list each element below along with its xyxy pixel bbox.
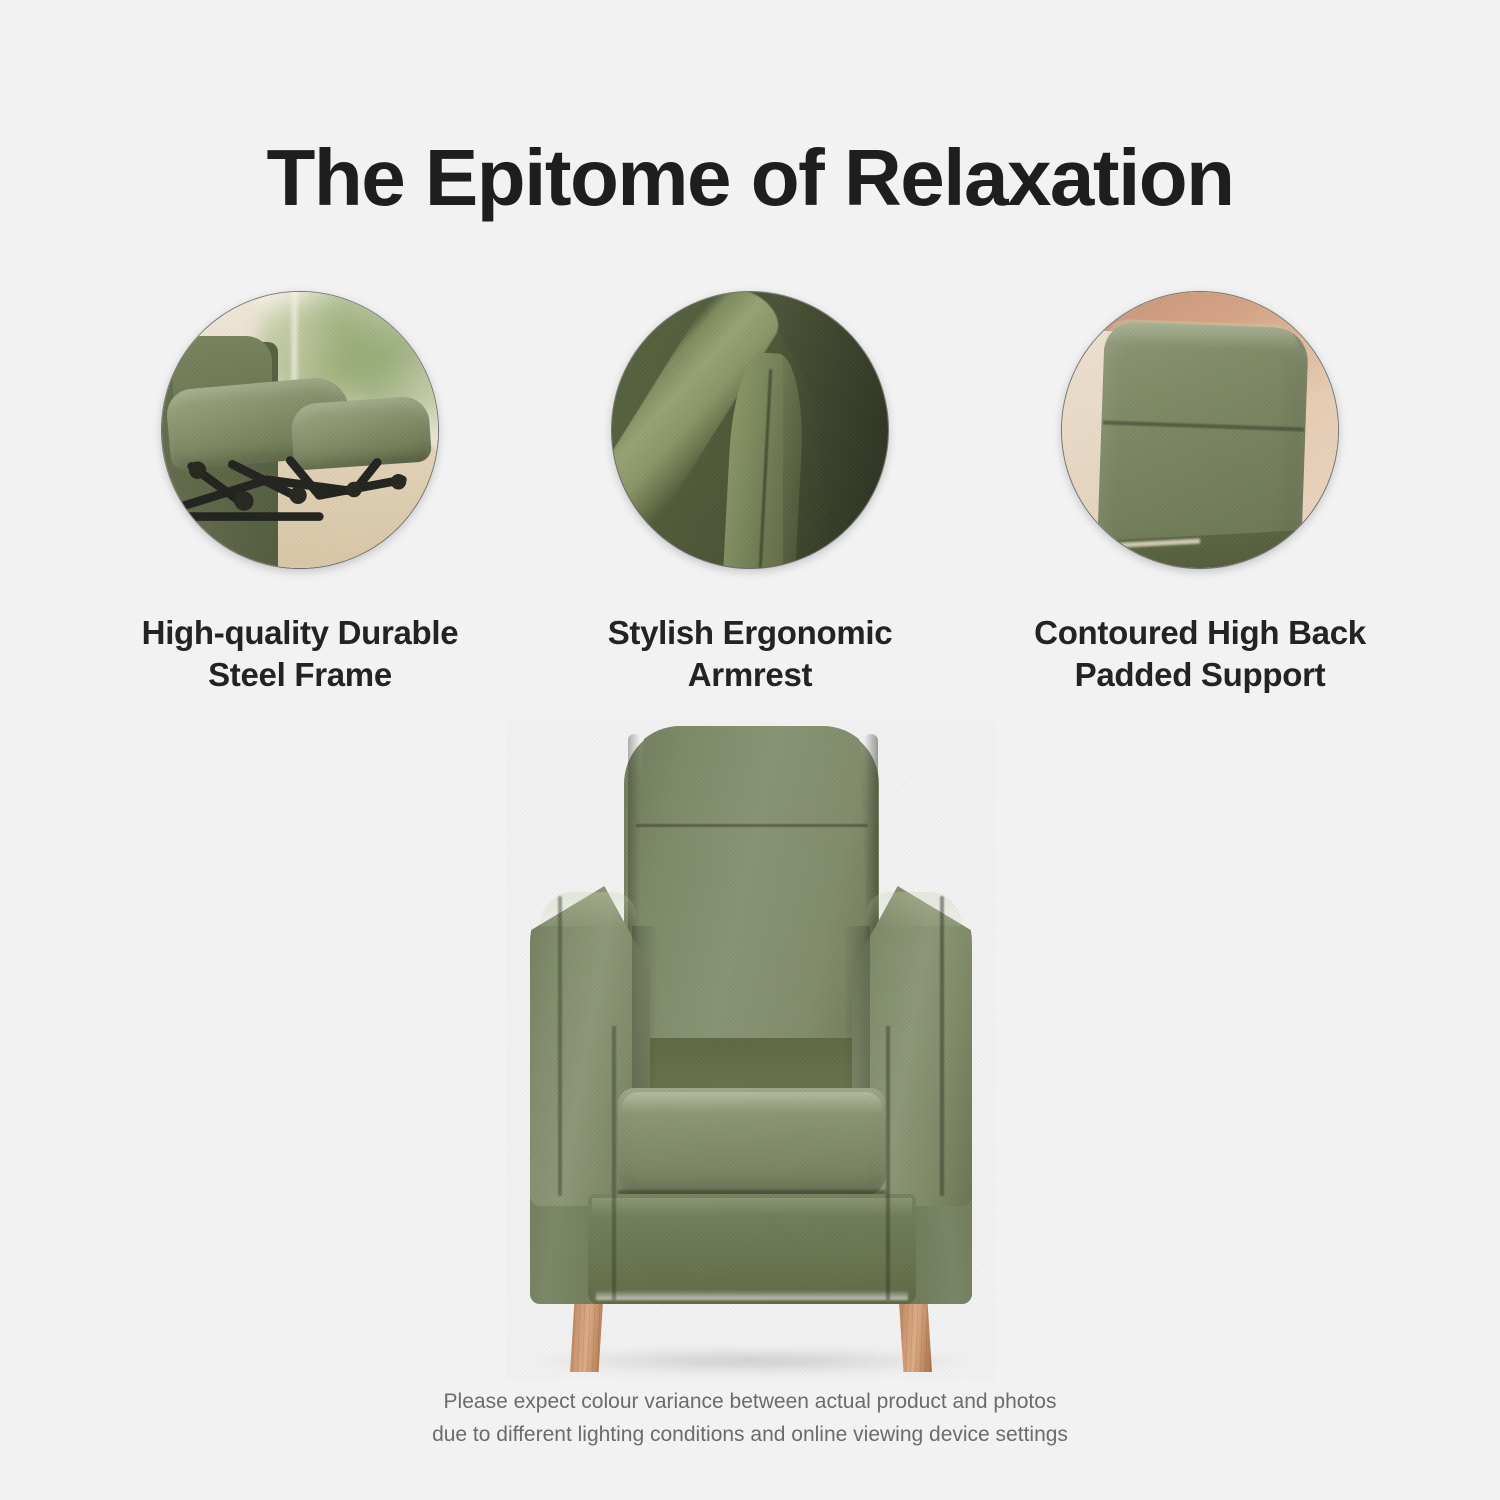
armrest-highlight-left <box>540 892 636 926</box>
side-seam-right <box>886 1026 890 1300</box>
armrest-seam-left <box>558 896 562 1196</box>
armrest-seam-right <box>940 896 944 1196</box>
product-recliner-chair <box>506 720 996 1380</box>
seat-highlight <box>622 1092 882 1114</box>
armrest-inner-shadow-right <box>844 926 870 1102</box>
feature-highlights-row: High-quality Durable Steel Frame Stylish… <box>100 292 1400 712</box>
skirt-bottom-highlight <box>596 1290 908 1300</box>
side-seam-left <box>612 1026 616 1300</box>
page-title: The Epitome of Relaxation <box>0 138 1500 218</box>
feature-high-back-support: Contoured High Back Padded Support <box>1000 292 1400 712</box>
photo-shadow <box>783 292 888 568</box>
high-back-cushion <box>1097 322 1309 555</box>
disclaimer-line-1: Please expect colour variance between ac… <box>0 1386 1500 1419</box>
caption-line-2: Padded Support <box>1034 654 1366 696</box>
floor-shadow <box>542 1348 962 1374</box>
feature-photo-steel-frame <box>162 292 438 568</box>
steel-frame-mechanism-icon <box>173 447 427 524</box>
feature-photo-armrest <box>612 292 888 568</box>
feature-ergonomic-armrest: Stylish Ergonomic Armrest <box>550 292 950 712</box>
headrest-seam <box>636 824 868 827</box>
caption-line-1: Stylish Ergonomic <box>608 612 893 654</box>
armrest-inner-shadow-left <box>632 926 658 1102</box>
caption-line-2: Steel Frame <box>142 654 459 696</box>
product-photo-stage <box>0 720 1500 1380</box>
caption-line-1: Contoured High Back <box>1034 612 1366 654</box>
feature-caption-high-back: Contoured High Back Padded Support <box>1034 612 1366 696</box>
skirt-highlight <box>592 1198 912 1216</box>
caption-line-1: High-quality Durable <box>142 612 459 654</box>
armrest-highlight-right <box>866 892 962 926</box>
disclaimer-line-2: due to different lighting conditions and… <box>0 1419 1500 1452</box>
caption-line-2: Armrest <box>608 654 893 696</box>
feature-photo-high-back <box>1062 292 1338 568</box>
colour-variance-disclaimer: Please expect colour variance between ac… <box>0 1386 1500 1451</box>
feature-caption-steel-frame: High-quality Durable Steel Frame <box>142 612 459 696</box>
feature-caption-armrest: Stylish Ergonomic Armrest <box>608 612 893 696</box>
feature-durable-steel-frame: High-quality Durable Steel Frame <box>100 292 500 712</box>
